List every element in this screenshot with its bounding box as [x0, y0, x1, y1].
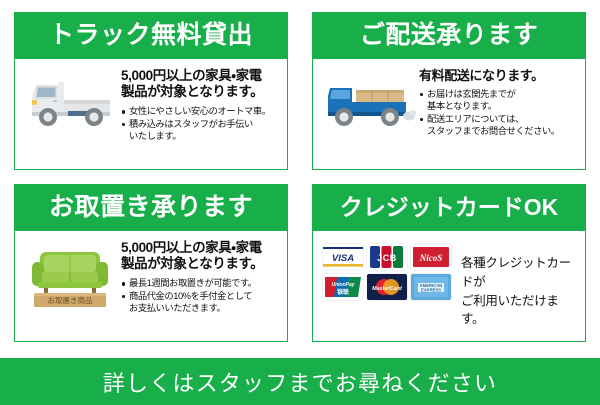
panel-truck-rental-copy: 5,000円以上の家具・家電 製品が対象となります。 女性にやさしい安心のオート… [119, 66, 281, 144]
panel-credit-card-header: クレジットカードOK [312, 184, 586, 231]
panel-truck-rental-notes: 女性にやさしい安心のオートマ車。 積み込みはスタッフがお手伝い いたします。 [121, 106, 281, 143]
panel-layaway-notes: 最長1週間お取置きが可能です。 商品代金の10%を手付金として お支払いいただき… [121, 278, 281, 315]
note-item: 女性にやさしい安心のオートマ車。 [121, 106, 281, 118]
panel-delivery-copy: 有料配送になります。 お届けは玄関先までが 基本となります。 配送エリアについて… [417, 66, 579, 138]
amex-card-logo: AMERICAN EXPRESS [411, 274, 451, 300]
sofa-platform-label: お取置き商品 [48, 295, 93, 305]
panel-truck-rental: トラック無料貸出 [14, 12, 288, 170]
panel-delivery: ご配送承ります [312, 12, 586, 170]
unionpay-card-logo: UnionPay 银联 [323, 274, 363, 300]
accepted-card-logos: VISA JCB [319, 238, 455, 300]
note-item: 積み込みはスタッフがお手伝い いたします。 [121, 119, 281, 143]
panel-delivery-lead: 有料配送になります。 [419, 68, 579, 84]
note-item: 最長1週間お取置きが可能です。 [121, 278, 281, 290]
footer-banner: 詳しくはスタッフまでお尋ねください [0, 358, 600, 405]
panel-layaway-copy: 5,000円以上の家具・家電 製品が対象となります。 最長1週間お取置きが可能で… [119, 238, 281, 316]
mastercard-card-logo: MasterCard [367, 274, 407, 300]
jcb-card-logo: JCB [367, 244, 407, 270]
svg-text:JCB: JCB [377, 253, 397, 263]
white-kei-truck-icon [21, 66, 119, 130]
panel-truck-rental-header: トラック無料貸出 [14, 12, 288, 59]
note-item: 配送エリアについては、 スタッフまでお問合せください。 [419, 114, 579, 138]
green-sofa-icon: お取置き商品 [21, 238, 119, 310]
service-info-poster: トラック無料貸出 [0, 0, 600, 405]
note-item: お届けは玄関先までが 基本となります。 [419, 89, 579, 113]
panel-delivery-body: 有料配送になります。 お届けは玄関先までが 基本となります。 配送エリアについて… [312, 59, 586, 170]
svg-text:NicoS: NicoS [419, 253, 443, 263]
panel-truck-rental-lead: 5,000円以上の家具・家電 製品が対象となります。 [121, 68, 281, 101]
service-panel-grid: トラック無料貸出 [14, 12, 586, 342]
svg-text:EXPRESS: EXPRESS [421, 287, 441, 292]
visa-card-logo: VISA [323, 244, 363, 270]
svg-text:MasterCard: MasterCard [372, 286, 402, 292]
panel-layaway: お取置き承ります [14, 184, 288, 342]
panel-layaway-header: お取置き承ります [14, 184, 288, 231]
note-item: 商品代金の10%を手付金として お支払いいただきます。 [121, 291, 281, 315]
panel-delivery-notes: お届けは玄関先までが 基本となります。 配送エリアについては、 スタッフまでお問… [419, 89, 579, 138]
svg-text:银联: 银联 [337, 288, 349, 296]
svg-text:UnionPay: UnionPay [331, 282, 354, 288]
panel-credit-card-lead: 各種クレジットカードが ご利用いただけます。 [455, 238, 579, 329]
panel-truck-rental-body: 5,000円以上の家具・家電 製品が対象となります。 女性にやさしい安心のオート… [14, 59, 288, 170]
panel-credit-card-body: VISA JCB [312, 231, 586, 342]
panel-layaway-body: お取置き商品 5,000円以上の家具・家電 製品が対象となります。 最長1週間お… [14, 231, 288, 342]
blue-delivery-truck-icon [319, 66, 417, 132]
panel-layaway-lead: 5,000円以上の家具・家電 製品が対象となります。 [121, 240, 281, 273]
svg-text:VISA: VISA [332, 253, 354, 264]
panel-delivery-header: ご配送承ります [312, 12, 586, 59]
nicos-card-logo: NicoS [411, 244, 451, 270]
panel-credit-card: クレジットカードOK VISA [312, 184, 586, 342]
